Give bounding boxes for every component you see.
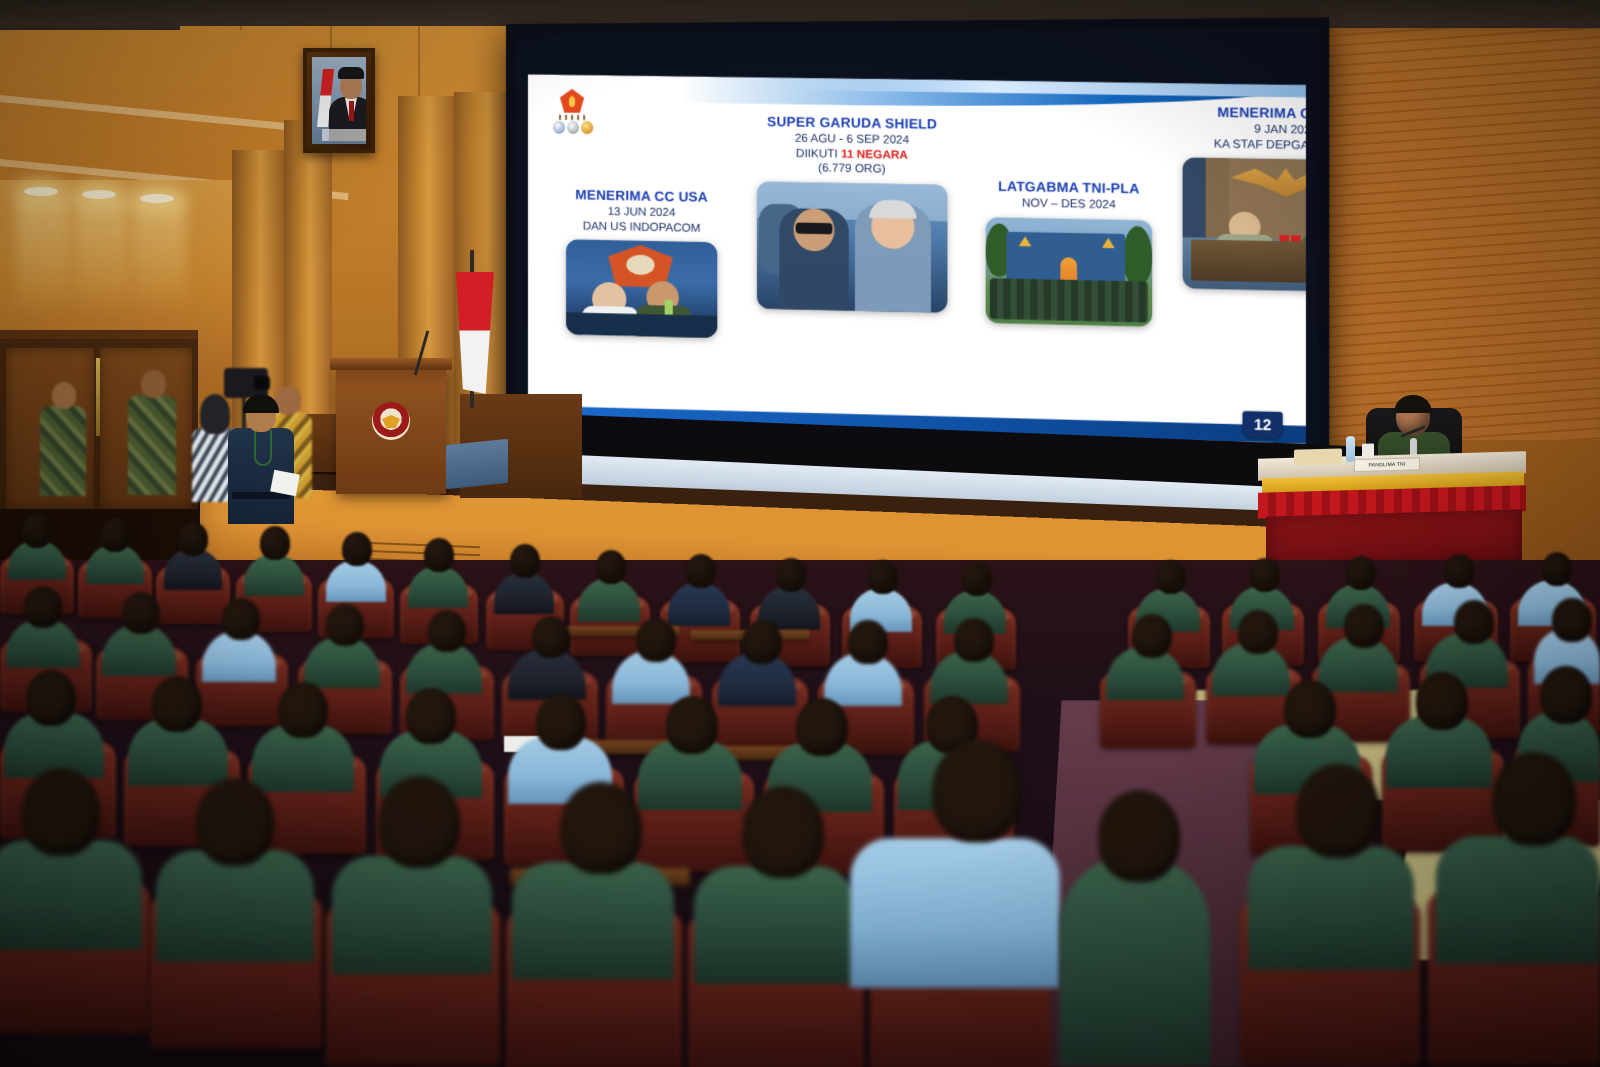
block-heading: MENERIMA CC PLA: [1165, 104, 1306, 123]
seated-attendee: [1436, 836, 1600, 964]
photo-menerima-cc-pla: [1183, 158, 1306, 294]
attendee-head: [1542, 552, 1572, 586]
service-emblems-icon: [553, 121, 593, 135]
block-line-highlight: 11 NEGARA: [841, 148, 908, 161]
attendee-head: [1250, 558, 1280, 592]
slide-block-super-garuda-shield: SUPER GARUDA SHIELD 26 AGU - 6 SEP 2024 …: [734, 113, 972, 313]
projection-screen: DIPLOMASI MILITER MENERIMA CC USA 13 JUN…: [506, 17, 1329, 460]
block-line: 13 JUN 2024: [608, 206, 676, 219]
head-table: PANGLIMA TNI: [1258, 455, 1526, 565]
attendee-head: [1346, 556, 1376, 590]
tni-emblem: [550, 89, 594, 140]
attendee-head: [1552, 598, 1592, 642]
portrait-nameplate: [322, 129, 366, 141]
seated-attendee: [332, 856, 492, 974]
attendee-head: [776, 558, 806, 592]
presenter-laptop[interactable]: [446, 439, 508, 490]
attendee-head: [962, 562, 992, 596]
head: [141, 370, 166, 398]
attendee-head: [1296, 764, 1380, 858]
seated-attendee: [1248, 846, 1414, 970]
attendee-head: [378, 776, 460, 868]
presentation-slide: DIPLOMASI MILITER MENERIMA CC USA 13 JUN…: [528, 74, 1306, 443]
attendee-head: [742, 786, 824, 878]
garuda-emblem-icon: [372, 402, 410, 440]
block-line: NOV – DES 2024: [1022, 197, 1116, 211]
nameplate: PANGLIMA TNI: [1354, 457, 1420, 472]
block-heading: SUPER GARUDA SHIELD: [734, 113, 972, 132]
slide-block-menerima-cc-usa: MENERIMA CC USA 13 JUN 2024 DAN US INDOP…: [546, 187, 738, 339]
camo-uniform: [40, 406, 86, 496]
light-cone: [132, 196, 186, 316]
block-line: (6.779 ORG): [818, 163, 885, 176]
naval-officer-speaking: [228, 398, 294, 524]
attendee-head: [278, 682, 328, 738]
block-line: 26 AGU - 6 SEP 2024: [795, 133, 909, 147]
attendee-head: [848, 620, 888, 664]
attendee-head: [796, 698, 848, 756]
auditorium-scene: DIPLOMASI MILITER MENERIMA CC USA 13 JUN…: [0, 0, 1600, 1067]
block-line: DAN US INDOPACOM: [583, 220, 701, 234]
pancasila-shield-icon: [560, 89, 584, 113]
attendee-head: [1098, 790, 1180, 882]
attendee-head: [932, 740, 1022, 842]
attendee-head: [868, 560, 898, 594]
attendee-head: [428, 610, 466, 652]
attendee-head: [342, 532, 372, 566]
ceiling-downlight: [82, 190, 116, 199]
attendee-head: [100, 518, 130, 552]
camouflage-soldier: [40, 382, 86, 494]
attendee-head: [1416, 672, 1468, 730]
seated-attendee: [156, 850, 314, 962]
attendee-head: [424, 538, 454, 572]
portrait-tie: [349, 101, 354, 121]
attendee-head: [596, 550, 626, 584]
attendee-head: [22, 514, 52, 548]
attendee-head: [1492, 752, 1576, 846]
seated-attendee: [1060, 856, 1210, 1066]
photo-latgabma-tni-pla: [986, 217, 1153, 327]
attendee-head: [954, 618, 994, 662]
ceiling-downlight: [24, 187, 58, 196]
attendee-head: [742, 620, 782, 664]
attendee-head: [666, 696, 718, 754]
block-line-prefix: DIIKUTI: [796, 147, 841, 160]
officer-hair: [1394, 395, 1432, 413]
slide-number-badge: 12: [1243, 411, 1283, 439]
attendee-head: [560, 782, 642, 874]
podium-top: [330, 358, 452, 370]
attendee-head: [510, 544, 540, 578]
light-cone: [16, 196, 70, 316]
attendee-head: [152, 676, 202, 732]
block-line: KA STAF DEPGAB CHINA: [1214, 138, 1306, 153]
attendee-head: [536, 694, 586, 750]
attendee-head: [222, 598, 260, 640]
attendee-head: [122, 592, 160, 634]
tissue-box: [1294, 448, 1342, 465]
portrait-image: [312, 57, 366, 144]
ceiling-downlight: [140, 194, 174, 203]
attendee-head: [1156, 560, 1186, 594]
portrait-peci-cap: [338, 67, 364, 79]
attendee-head: [532, 616, 570, 658]
camouflage-soldier: [128, 370, 176, 494]
attendee-head: [406, 688, 456, 744]
attendee-head: [1454, 600, 1494, 644]
speaking-podium: [336, 366, 446, 494]
block-heading: LATGABMA TNI-PLA: [967, 178, 1171, 197]
slide-block-menerima-cc-pla: MENERIMA CC PLA 9 JAN 2025 KA STAF DEPGA…: [1165, 104, 1306, 294]
block-heading: MENERIMA CC USA: [546, 187, 738, 206]
camo-uniform: [128, 395, 176, 495]
lanyard: [254, 430, 272, 466]
attendee-head: [1540, 666, 1592, 724]
hijab-scarf: [200, 394, 230, 434]
attendee-head: [1238, 610, 1278, 654]
paper-cup: [1362, 444, 1374, 460]
attendee-head: [1344, 604, 1384, 648]
presidential-portrait: [303, 48, 375, 153]
seated-attendee: [0, 840, 142, 950]
seated-attendee: [694, 866, 856, 984]
attendee-head: [1132, 614, 1172, 658]
attendee-head: [24, 586, 62, 628]
photo-super-garuda-shield: [757, 182, 948, 313]
attendee-head: [326, 604, 364, 646]
block-line: 9 JAN 2025: [1254, 123, 1306, 136]
attendee-head: [196, 778, 274, 866]
attendee-head: [686, 554, 716, 588]
head: [52, 382, 76, 409]
attendee-head: [178, 522, 208, 556]
attendee-head: [260, 526, 290, 560]
briefing-papers: [270, 470, 300, 497]
photo-menerima-cc-usa: [566, 240, 717, 339]
slide-block-latgabma-tni-pla: LATGABMA TNI-PLA NOV – DES 2024: [967, 178, 1171, 327]
attendee-head: [22, 768, 100, 856]
door-handle[interactable]: [96, 358, 100, 436]
seated-attendee: [512, 862, 674, 980]
wall-right-slats: [1315, 28, 1600, 468]
attendee-head: [26, 670, 76, 726]
attendee-head: [636, 618, 676, 662]
attendee-head: [1444, 554, 1474, 588]
stars-icon: [559, 115, 585, 120]
seated-attendee: [850, 838, 1060, 988]
light-cone: [74, 196, 128, 316]
attendee-head: [1284, 680, 1336, 738]
